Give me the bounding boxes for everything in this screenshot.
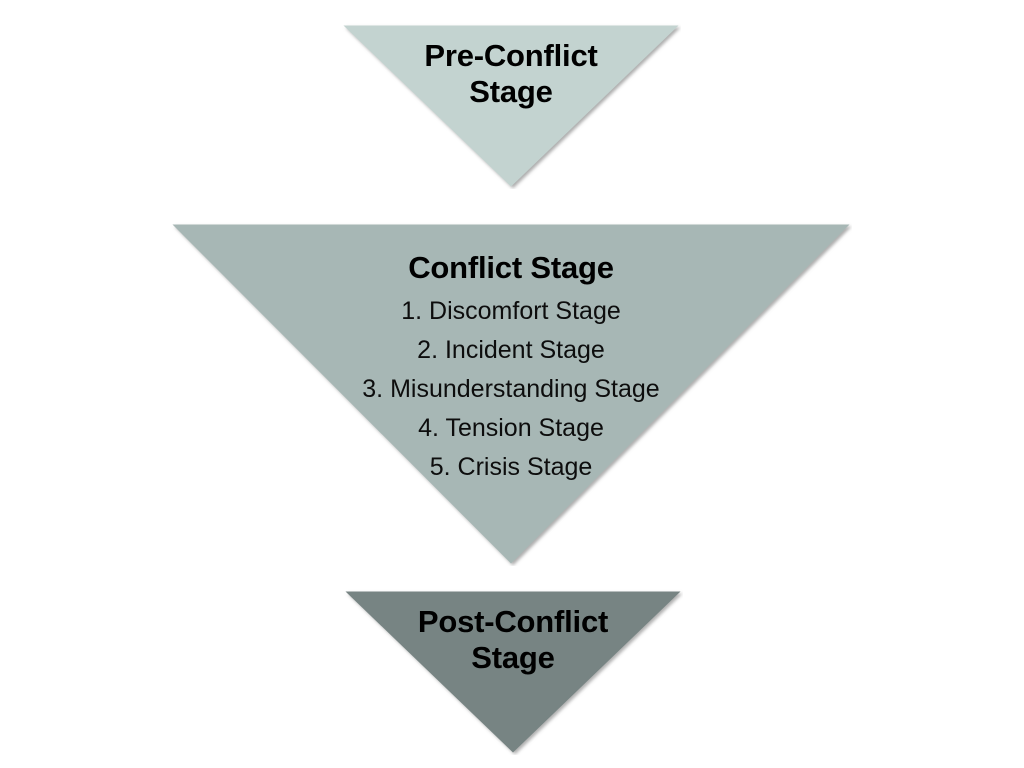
conflict-polygon (173, 225, 850, 564)
post-conflict-polygon (346, 592, 681, 753)
stage-pre-conflict: Pre-Conflict Stage (341, 23, 681, 189)
conflict-triangle-shape (170, 222, 852, 566)
pre-conflict-triangle-shape (341, 23, 681, 189)
post-conflict-triangle-shape (343, 589, 683, 755)
stage-conflict: Conflict Stage 1. Discomfort Stage 2. In… (170, 222, 852, 566)
conflict-stages-diagram: Pre-Conflict Stage Conflict Stage 1. Dis… (0, 0, 1024, 768)
pre-conflict-polygon (344, 26, 679, 187)
stage-post-conflict: Post-Conflict Stage (343, 589, 683, 755)
